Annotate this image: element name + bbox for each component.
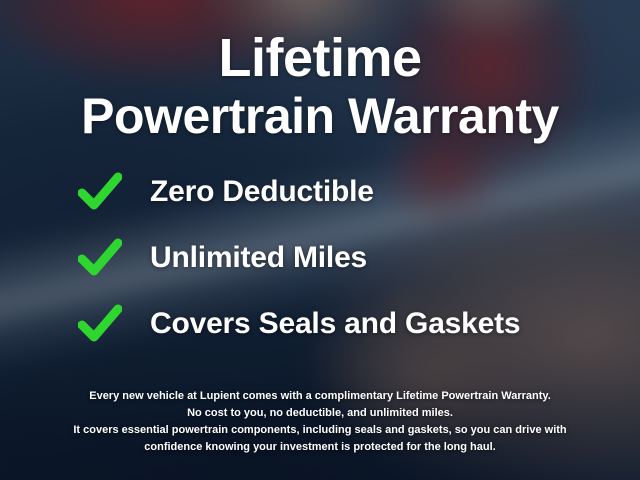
check-icon bbox=[78, 304, 122, 344]
feature-label: Covers Seals and Gaskets bbox=[150, 307, 520, 341]
feature-list: Zero Deductible Unlimited Miles Covers S… bbox=[0, 172, 640, 344]
banner-content: Lifetime Powertrain Warranty Zero Deduct… bbox=[0, 0, 640, 480]
headline-line-2: Powertrain Warranty bbox=[0, 90, 640, 142]
disclaimer-line: confidence knowing your investment is pr… bbox=[26, 439, 614, 456]
disclaimer-line: It covers essential powertrain component… bbox=[26, 422, 614, 439]
disclaimer-text: Every new vehicle at Lupient comes with … bbox=[0, 388, 640, 456]
disclaimer-line: No cost to you, no deductible, and unlim… bbox=[26, 405, 614, 422]
feature-item-unlimited-miles: Unlimited Miles bbox=[0, 238, 640, 278]
feature-item-covers-seals-and-gaskets: Covers Seals and Gaskets bbox=[0, 304, 640, 344]
feature-item-zero-deductible: Zero Deductible bbox=[0, 172, 640, 212]
disclaimer-line: Every new vehicle at Lupient comes with … bbox=[26, 388, 614, 405]
headline-line-1: Lifetime bbox=[0, 30, 640, 86]
feature-label: Zero Deductible bbox=[150, 175, 374, 209]
warranty-promo-banner: Lifetime Powertrain Warranty Zero Deduct… bbox=[0, 0, 640, 480]
check-icon bbox=[78, 172, 122, 212]
check-icon bbox=[78, 238, 122, 278]
feature-label: Unlimited Miles bbox=[150, 241, 367, 275]
